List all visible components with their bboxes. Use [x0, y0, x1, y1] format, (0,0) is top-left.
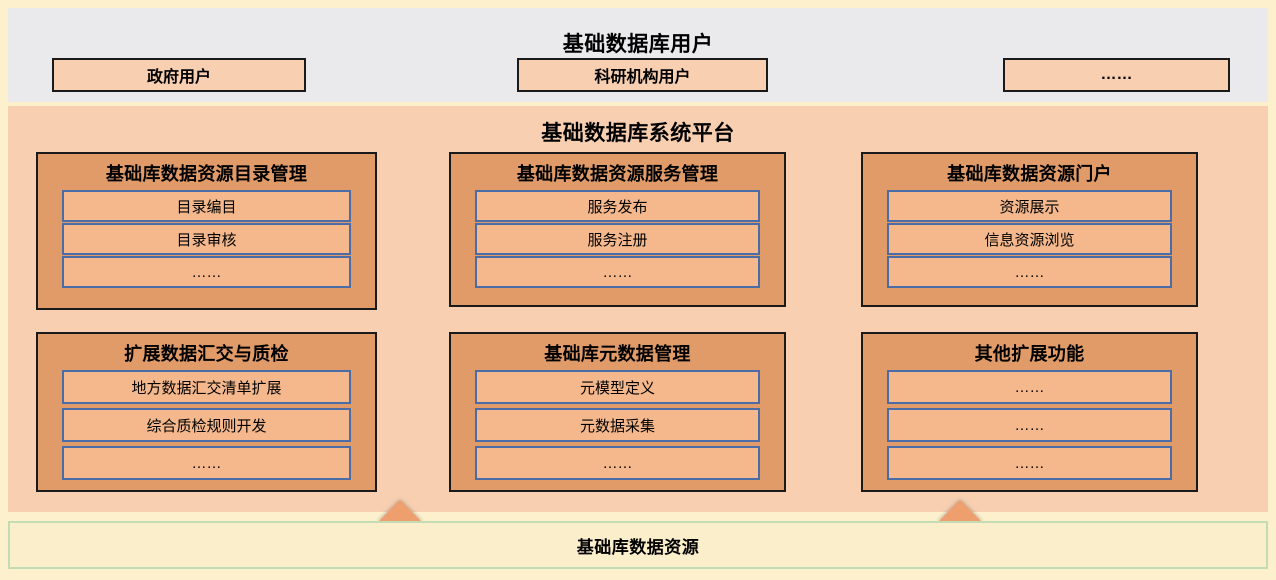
users-band: 基础数据库用户 政府用户 科研机构用户 …… [8, 8, 1268, 102]
module-item[interactable]: …… [62, 446, 351, 480]
resource-band: 基础库数据资源 [8, 521, 1268, 569]
module-title: 其他扩展功能 [863, 334, 1196, 370]
module-grid: 基础库数据资源目录管理 目录编目 目录审核 …… 基础库数据资源服务管理 服务发… [8, 150, 1268, 500]
arrow-up-icon [938, 500, 982, 522]
module-item-list: 元模型定义 元数据采集 …… [451, 370, 784, 480]
module-item[interactable]: 服务发布 [475, 190, 760, 222]
module-item[interactable]: 目录审核 [62, 223, 351, 255]
resource-band-title: 基础库数据资源 [577, 533, 700, 558]
module-item[interactable]: 资源展示 [887, 190, 1172, 222]
module-catalog-management[interactable]: 基础库数据资源目录管理 目录编目 目录审核 …… [36, 152, 377, 310]
module-item-list: 目录编目 目录审核 …… [38, 190, 375, 288]
user-box-ellipsis[interactable]: …… [1003, 58, 1230, 92]
module-item-list: …… …… …… [863, 370, 1196, 480]
module-other-extensions[interactable]: 其他扩展功能 …… …… …… [861, 332, 1198, 492]
users-band-title: 基础数据库用户 [8, 28, 1268, 58]
architecture-diagram: 基础数据库用户 政府用户 科研机构用户 …… 基础数据库系统平台 基础库数据资源… [0, 0, 1276, 580]
module-item-list: 服务发布 服务注册 …… [451, 190, 784, 288]
module-item[interactable]: …… [475, 256, 760, 288]
module-item[interactable]: …… [887, 408, 1172, 442]
module-item[interactable]: 元数据采集 [475, 408, 760, 442]
module-metadata-management[interactable]: 基础库元数据管理 元模型定义 元数据采集 …… [449, 332, 786, 492]
user-box-government[interactable]: 政府用户 [52, 58, 306, 92]
platform-panel: 基础数据库系统平台 基础库数据资源目录管理 目录编目 目录审核 …… 基础库数据… [8, 106, 1268, 512]
module-item[interactable]: 元模型定义 [475, 370, 760, 404]
module-item[interactable]: 综合质检规则开发 [62, 408, 351, 442]
module-title: 基础库数据资源门户 [863, 154, 1196, 190]
arrow-up-icon [378, 500, 422, 522]
module-item[interactable]: …… [887, 370, 1172, 404]
module-item[interactable]: 目录编目 [62, 190, 351, 222]
user-box-label: 政府用户 [147, 63, 211, 87]
module-service-management[interactable]: 基础库数据资源服务管理 服务发布 服务注册 …… [449, 152, 786, 307]
module-title: 基础库数据资源目录管理 [38, 154, 375, 190]
module-item[interactable]: 地方数据汇交清单扩展 [62, 370, 351, 404]
module-data-submission-quality[interactable]: 扩展数据汇交与质检 地方数据汇交清单扩展 综合质检规则开发 …… [36, 332, 377, 492]
module-item[interactable]: …… [62, 256, 351, 288]
module-item-list: 地方数据汇交清单扩展 综合质检规则开发 …… [38, 370, 375, 480]
module-item[interactable]: …… [887, 446, 1172, 480]
user-box-research-institution[interactable]: 科研机构用户 [517, 58, 768, 92]
module-item[interactable]: …… [475, 446, 760, 480]
user-box-label: 科研机构用户 [594, 63, 690, 87]
module-item[interactable]: …… [887, 256, 1172, 288]
user-box-label: …… [1101, 66, 1133, 84]
module-item[interactable]: 服务注册 [475, 223, 760, 255]
module-resource-portal[interactable]: 基础库数据资源门户 资源展示 信息资源浏览 …… [861, 152, 1198, 307]
module-item[interactable]: 信息资源浏览 [887, 223, 1172, 255]
module-title: 基础库数据资源服务管理 [451, 154, 784, 190]
module-title: 扩展数据汇交与质检 [38, 334, 375, 370]
platform-title: 基础数据库系统平台 [8, 117, 1268, 147]
module-title: 基础库元数据管理 [451, 334, 784, 370]
module-item-list: 资源展示 信息资源浏览 …… [863, 190, 1196, 288]
